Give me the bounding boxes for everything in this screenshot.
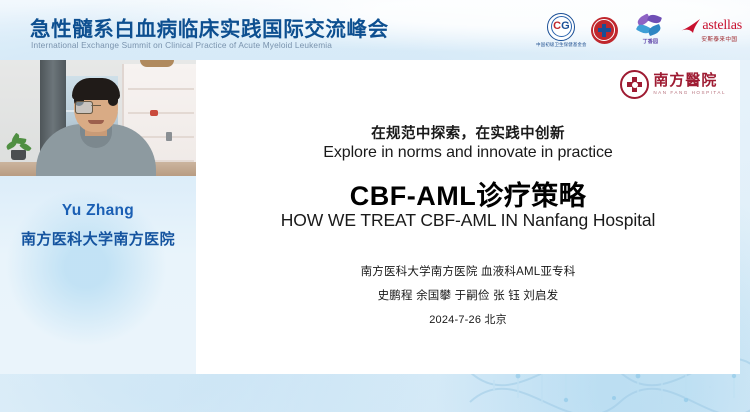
video-lamp	[140, 60, 174, 67]
cscf-logo-caption: 中国初级卫生保健基金会	[536, 42, 587, 48]
slide-tagline-cn: 在规范中探索，在实践中创新	[196, 122, 740, 143]
event-title-en: International Exchange Summit on Clinica…	[31, 40, 332, 50]
astellas-logo: astellas 安斯泰来中国	[679, 18, 742, 43]
butterfly-icon	[637, 15, 663, 37]
nanfang-hospital-logo: 南方醫院 NAN FANG HOSPITAL	[620, 70, 726, 99]
event-header-banner: 急性髓系白血病临床实践国际交流峰会 International Exchange…	[0, 0, 750, 60]
slide-title-cn: CBF-AML诊疗策略	[196, 174, 740, 213]
speaker-name: Yu Zhang	[0, 202, 196, 220]
cscf-logo-glyph: G	[561, 20, 570, 32]
hospital-name-en: NAN FANG HOSPITAL	[653, 90, 726, 95]
hospital-cross-emblem-icon	[620, 70, 649, 99]
slide-authors: 史鹏程 余国攀 于嗣俭 张 钰 刘启发	[196, 287, 740, 303]
speaker-figure	[36, 84, 156, 176]
speaker-affiliation: 南方医科大学南方医院	[0, 228, 196, 249]
presentation-viewer: 急性髓系白血病临床实践国际交流峰会 International Exchange…	[0, 0, 750, 412]
dingxiangyuan-logo-caption: 丁香园	[643, 38, 659, 45]
slide-title-en: HOW WE TREAT CBF-AML IN Nanfang Hospital	[196, 210, 740, 231]
astellas-logo-caption: 安斯泰来中国	[701, 35, 737, 43]
slide-department: 南方医科大学南方医院 血液科AML亚专科	[196, 263, 740, 279]
eyeglasses-icon	[75, 101, 117, 112]
slide-tagline-en: Explore in norms and innovate in practic…	[196, 144, 740, 162]
dingxiangyuan-logo: 丁香园	[630, 15, 670, 45]
video-plant	[6, 134, 32, 160]
cscf-emblem-icon: CG	[547, 13, 575, 41]
hospital-name-cn: 南方醫院	[653, 74, 726, 90]
medical-cross-logo	[587, 17, 621, 44]
speaker-panel: Yu Zhang 南方医科大学南方医院	[0, 60, 196, 374]
slide-date-location: 2024-7-26 北京	[196, 311, 740, 327]
speaker-nameplate: Yu Zhang 南方医科大学南方医院	[0, 176, 196, 374]
event-title-cn: 急性髓系白血病临床实践国际交流峰会	[30, 12, 389, 42]
video-shelf-ornament-2	[166, 132, 172, 141]
speaker-video-feed[interactable]	[0, 60, 196, 176]
sponsor-logo-row: CG 中国初级卫生保健基金会 丁香园 astellas	[544, 9, 742, 51]
astellas-wordmark: astellas	[702, 19, 742, 33]
medical-cross-icon	[591, 17, 618, 44]
astellas-star-icon	[679, 18, 701, 34]
cscf-logo-accent-glyph: C	[553, 20, 561, 32]
slide-content[interactable]: 南方醫院 NAN FANG HOSPITAL 在规范中探索，在实践中创新 Exp…	[196, 60, 740, 374]
cscf-logo: CG 中国初级卫生保健基金会	[544, 13, 578, 48]
